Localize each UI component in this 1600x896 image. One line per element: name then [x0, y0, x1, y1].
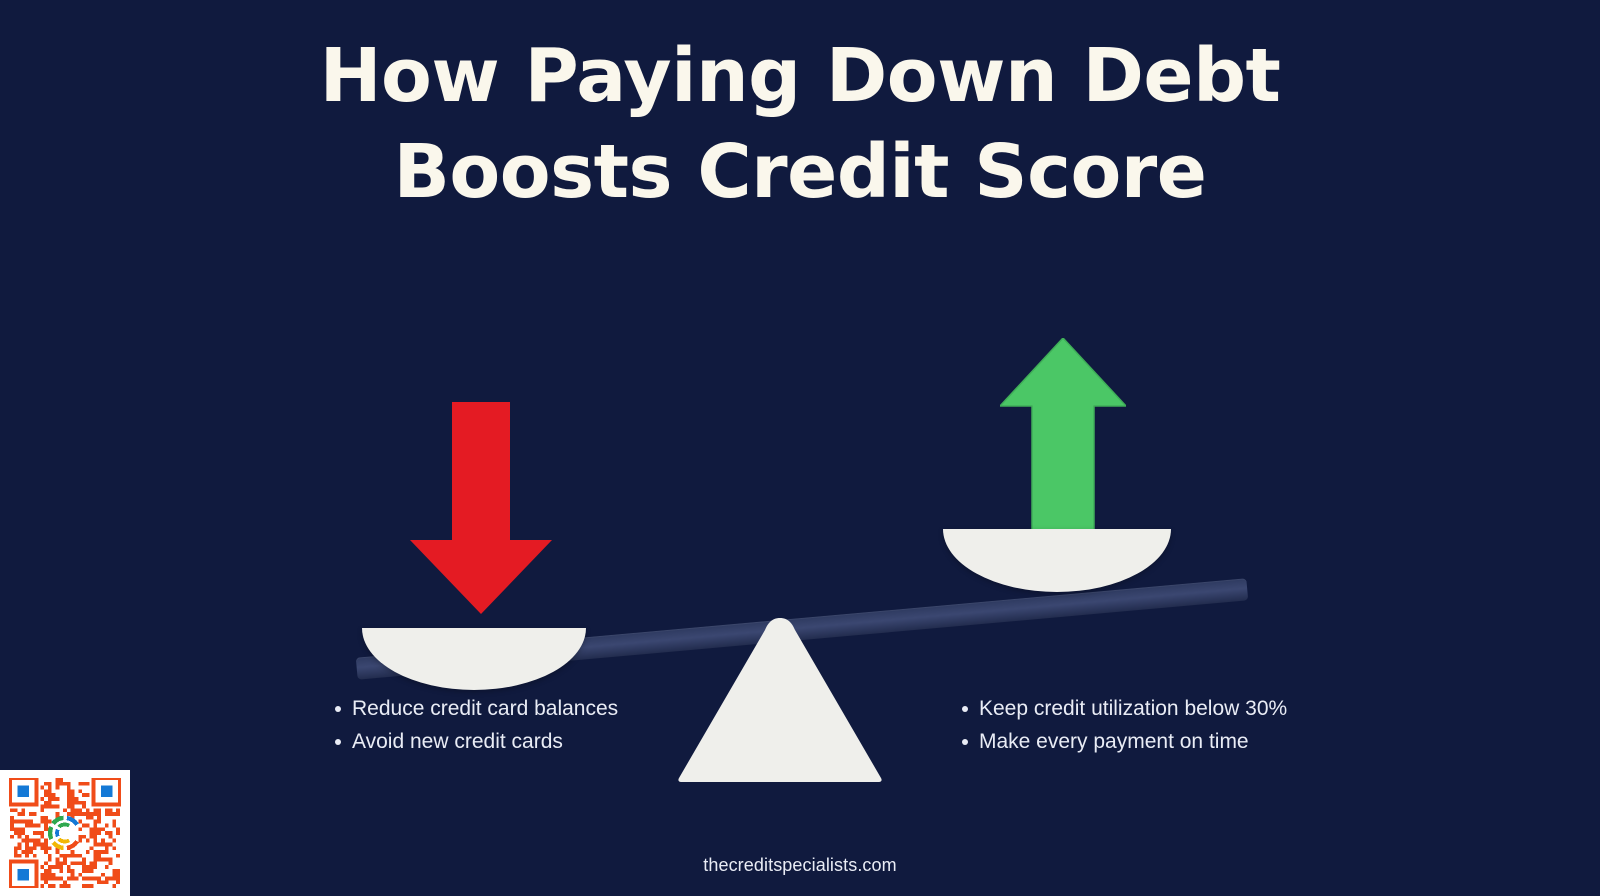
scale-pan-left — [362, 628, 586, 690]
qr-code-graphic — [9, 778, 121, 888]
arrow-down-icon — [410, 402, 552, 614]
infographic-canvas: How Paying Down Debt Boosts Credit Score — [0, 0, 1600, 896]
list-item: Reduce credit card balances — [328, 692, 618, 725]
scale-pan-right — [943, 529, 1171, 592]
list-item: Keep credit utilization below 30% — [955, 692, 1287, 725]
scale-beam — [356, 578, 1248, 679]
arrow-up-icon — [1000, 338, 1126, 538]
list-item: Avoid new credit cards — [328, 725, 618, 758]
title-line-1: How Paying Down Debt — [180, 28, 1420, 124]
page-title: How Paying Down Debt Boosts Credit Score — [0, 28, 1600, 220]
footer-website-url: thecreditspecialists.com — [0, 855, 1600, 876]
scale-fulcrum — [676, 618, 884, 782]
left-bullet-list: Reduce credit card balances Avoid new cr… — [328, 692, 618, 758]
title-line-2: Boosts Credit Score — [180, 124, 1420, 220]
qr-code-icon[interactable] — [0, 770, 130, 896]
list-item: Make every payment on time — [955, 725, 1287, 758]
right-bullet-list: Keep credit utilization below 30% Make e… — [955, 692, 1287, 758]
